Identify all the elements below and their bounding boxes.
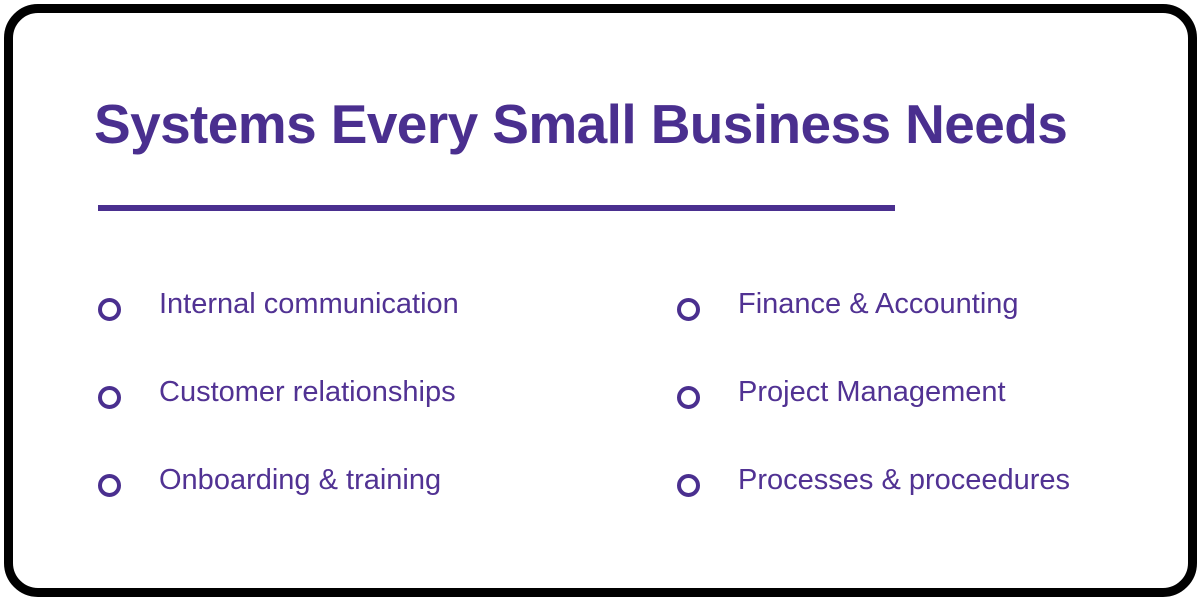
list-item[interactable]: Finance & Accounting [677,275,1070,363]
circle-outline-icon [98,298,121,321]
list-item-label: Project Management [738,363,1006,421]
content-card: Systems Every Small Business Needs Inter… [4,4,1197,597]
circle-outline-icon [677,474,700,497]
circle-outline-icon [98,474,121,497]
circle-outline-icon [98,386,121,409]
list-item[interactable]: Processes & proceedures [677,451,1070,539]
circle-outline-icon [677,298,700,321]
list-item[interactable]: Customer relationships [98,363,459,451]
list-item-label: Onboarding & training [159,451,441,509]
checklist-column-left: Internal communication Customer relation… [98,275,459,539]
list-item[interactable]: Onboarding & training [98,451,459,539]
checklist-column-right: Finance & Accounting Project Management … [677,275,1070,539]
checklist: Internal communication Customer relation… [13,13,1188,588]
list-item-label: Finance & Accounting [738,275,1019,333]
card-inner: Systems Every Small Business Needs Inter… [13,13,1188,588]
circle-outline-icon [677,386,700,409]
list-item-label: Processes & proceedures [738,451,1070,509]
list-item[interactable]: Internal communication [98,275,459,363]
list-item[interactable]: Project Management [677,363,1070,451]
list-item-label: Customer relationships [159,363,456,421]
list-item-label: Internal communication [159,275,459,333]
